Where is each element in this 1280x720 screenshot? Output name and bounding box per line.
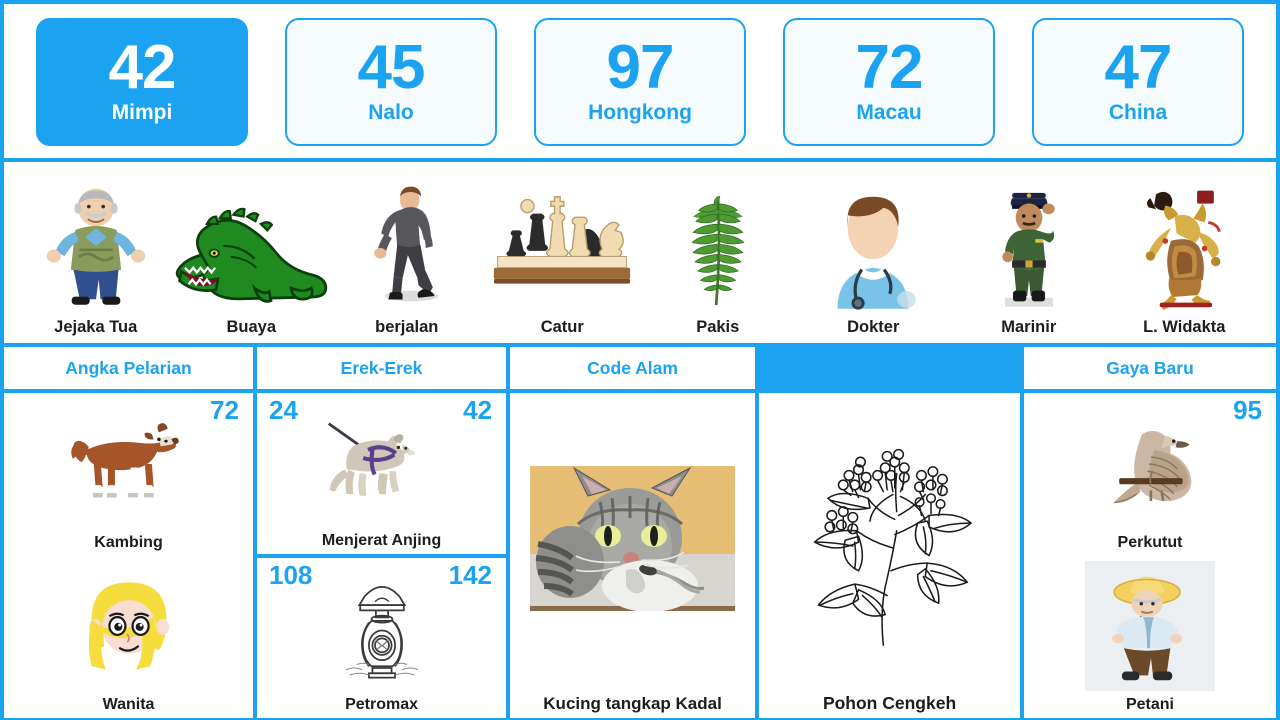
entry-kucing-tangkap-kadal[interactable]: Kucing tangkap Kadal bbox=[510, 393, 755, 718]
entry-caption: Kambing bbox=[94, 534, 162, 552]
number-card-label: Hongkong bbox=[588, 100, 692, 125]
chess-board-icon bbox=[485, 183, 641, 311]
entry-number-right: 95 bbox=[1233, 397, 1262, 423]
entry-perkutut[interactable]: 95 bbox=[1024, 393, 1276, 556]
column-header-angka-pelarian: Angka Pelarian bbox=[4, 347, 253, 389]
number-card-label: Mimpi bbox=[112, 100, 173, 125]
icon-caption: Catur bbox=[541, 318, 584, 337]
entry-pohon-cengkeh[interactable]: Pohon Cengkeh bbox=[759, 393, 1020, 718]
icon-cell-pakis[interactable]: Pakis bbox=[640, 166, 796, 337]
number-card-value: 72 bbox=[856, 38, 923, 98]
column-body-code-alam: Kucing tangkap Kadal bbox=[510, 393, 755, 718]
number-card-china[interactable]: 47 China bbox=[1032, 18, 1244, 146]
marine-soldier-icon bbox=[951, 183, 1107, 311]
entry-petromax[interactable]: 108 142 bbox=[257, 554, 506, 719]
crocodile-icon bbox=[174, 183, 330, 311]
icon-cell-jejaka-tua[interactable]: Jejaka Tua bbox=[18, 166, 174, 337]
entry-caption: Kucing tangkap Kadal bbox=[543, 694, 722, 714]
entry-petani[interactable]: Petani bbox=[1024, 556, 1276, 719]
fern-leaf-icon bbox=[640, 183, 796, 311]
column-erek-erek: Erek-Erek 24 42 bbox=[257, 347, 506, 718]
icon-cell-catur[interactable]: Catur bbox=[485, 166, 641, 337]
column-header-text: Angka Pelarian bbox=[65, 358, 191, 379]
column-header-text: Gaya Baru bbox=[1106, 358, 1194, 379]
column-header-text: Erek-Erek bbox=[341, 358, 423, 379]
column-code-alam: Code Alam bbox=[510, 347, 755, 718]
entry-caption: Wanita bbox=[103, 696, 155, 714]
number-card-value: 45 bbox=[358, 38, 425, 98]
column-header-erek-erek: Erek-Erek bbox=[257, 347, 506, 389]
entry-caption: Petromax bbox=[345, 696, 418, 714]
number-card-value: 97 bbox=[607, 38, 674, 98]
farmer-icon bbox=[1030, 560, 1270, 694]
column-header-code-alam: Code Alam bbox=[510, 347, 755, 389]
old-man-icon bbox=[18, 183, 174, 311]
wayang-puppet-icon bbox=[1107, 183, 1263, 311]
entry-number-right: 72 bbox=[210, 397, 239, 423]
column-body-angka-pelarian: 72 bbox=[4, 393, 253, 718]
number-card-label: Macau bbox=[856, 100, 921, 125]
number-card-hongkong[interactable]: 97 Hongkong bbox=[534, 18, 746, 146]
entry-wanita[interactable]: Wanita bbox=[4, 556, 253, 719]
icon-caption: berjalan bbox=[375, 318, 438, 337]
walking-man-icon bbox=[329, 183, 485, 311]
entry-caption: Menjerat Anjing bbox=[322, 532, 441, 550]
icon-strip-panel: Jejaka Tua bbox=[4, 158, 1276, 343]
entry-kambing[interactable]: 72 bbox=[4, 393, 253, 556]
entry-menjerat-anjing[interactable]: 24 42 bbox=[257, 393, 506, 554]
icon-cell-marinir[interactable]: Marinir bbox=[951, 166, 1107, 337]
clove-tree-icon bbox=[765, 397, 1014, 693]
icon-caption: Marinir bbox=[1001, 318, 1056, 337]
entry-caption: Petani bbox=[1126, 696, 1174, 714]
number-card-value: 42 bbox=[109, 38, 176, 98]
doctor-icon bbox=[796, 183, 952, 311]
column-header-unlabeled bbox=[759, 347, 1020, 389]
entry-caption: Perkutut bbox=[1118, 534, 1183, 552]
column-unlabeled: Pohon Cengkeh bbox=[759, 347, 1020, 718]
icon-caption: L. Widakta bbox=[1143, 318, 1225, 337]
column-body-erek-erek: 24 42 bbox=[257, 393, 506, 718]
column-gaya-baru: Gaya Baru 95 bbox=[1024, 347, 1276, 718]
column-header-text: Code Alam bbox=[587, 358, 678, 379]
icon-cell-dokter[interactable]: Dokter bbox=[796, 166, 952, 337]
column-header-gaya-baru: Gaya Baru bbox=[1024, 347, 1276, 389]
number-card-label: Nalo bbox=[368, 100, 414, 125]
column-body-gaya-baru: 95 bbox=[1024, 393, 1276, 718]
number-card-label: China bbox=[1109, 100, 1167, 125]
icon-caption: Dokter bbox=[847, 318, 899, 337]
number-card-value: 47 bbox=[1105, 38, 1172, 98]
entry-caption: Pohon Cengkeh bbox=[823, 693, 956, 714]
cat-photo-icon bbox=[516, 397, 749, 680]
icon-caption: Buaya bbox=[226, 318, 276, 337]
icon-cell-buaya[interactable]: Buaya bbox=[174, 166, 330, 337]
entry-number-left: 24 bbox=[269, 397, 298, 423]
column-angka-pelarian: Angka Pelarian 72 bbox=[4, 347, 253, 718]
prediction-board: 42 Mimpi 45 Nalo 97 Hongkong 72 Macau 47… bbox=[0, 0, 1280, 720]
icon-cell-l-widakta[interactable]: L. Widakta bbox=[1107, 166, 1263, 337]
number-card-mimpi[interactable]: 42 Mimpi bbox=[36, 18, 248, 146]
icon-caption: Pakis bbox=[696, 318, 739, 337]
entry-number-right: 42 bbox=[463, 397, 492, 423]
woman-face-icon bbox=[10, 560, 247, 694]
bottom-sections: Angka Pelarian 72 bbox=[4, 343, 1276, 718]
entry-number-right: 142 bbox=[449, 562, 492, 588]
column-body-unlabeled: Pohon Cengkeh bbox=[759, 393, 1020, 718]
number-cards-panel: 42 Mimpi 45 Nalo 97 Hongkong 72 Macau 47… bbox=[4, 4, 1276, 158]
icon-cell-berjalan[interactable]: berjalan bbox=[329, 166, 485, 337]
icon-caption: Jejaka Tua bbox=[54, 318, 137, 337]
number-card-nalo[interactable]: 45 Nalo bbox=[285, 18, 497, 146]
number-card-macau[interactable]: 72 Macau bbox=[783, 18, 995, 146]
entry-number-left: 108 bbox=[269, 562, 312, 588]
